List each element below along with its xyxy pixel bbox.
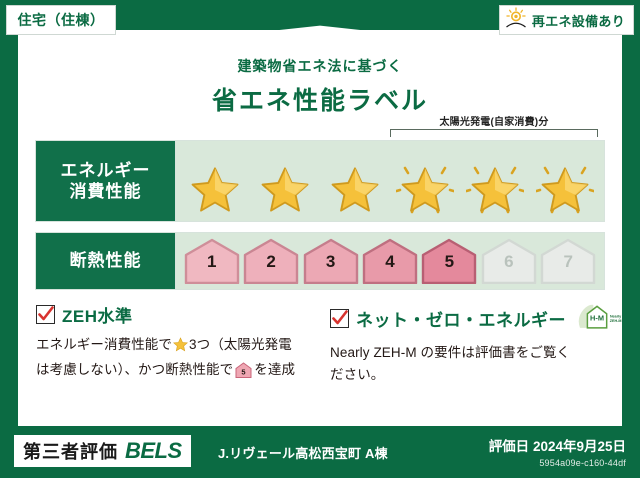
insulation-level-3: 3 (302, 238, 360, 284)
star-base (326, 157, 384, 217)
zeh-desc-part-d: を達成 (254, 362, 295, 377)
sun-solar-icon (504, 7, 528, 34)
insulation-level-number: 5 (420, 252, 478, 272)
insulation-level-number: 6 (480, 252, 538, 272)
zeh-m-logo-icon: H-M Nearly ZEH-M (577, 302, 623, 335)
evaluation-info: 評価日 2024年9月25日 5954a09e-c160-44df (489, 435, 626, 468)
nze-desc-part-a: Nearly ZEH-M の要件は評価書をご覧く (330, 345, 570, 360)
solar-annotation-text: 太陽光発電(自家消費)分 (390, 113, 598, 128)
star-icon (540, 165, 590, 215)
zeh-standard-block: ZEH水準 エネルギー消費性能で3つ（太陽光発電 は考慮しない）、かつ断熱性能で… (36, 302, 312, 387)
insulation-performance-label-box: 断熱性能 (35, 232, 176, 290)
star-solar (536, 157, 594, 217)
insulation-level-1: 1 (183, 238, 241, 284)
energy-performance-row: エネルギー 消費性能 太陽光発電(自家消費)分 (35, 140, 605, 222)
footer-bar: 第三者評価 BELS J.リヴェール高松西宝町 A棟 評価日 2024年9月25… (0, 426, 640, 478)
net-zero-energy-description: Nearly ZEH-M の要件は評価書をご覧く ださい。 (330, 342, 606, 387)
star-base (186, 157, 244, 217)
star-icon (190, 165, 240, 215)
star-solar (466, 157, 524, 217)
energy-performance-label: 住宅（住棟） 再エネ設備あり 建築物省エネ法に基づく 省エネ性能ラベル (0, 0, 640, 478)
svg-text:ZEH-M: ZEH-M (610, 319, 622, 323)
net-zero-energy-checkbox[interactable] (330, 309, 349, 328)
insulation-level-number: 1 (183, 252, 241, 272)
zeh-standard-description: エネルギー消費性能で3つ（太陽光発電 は考慮しない）、かつ断熱性能で5を達成 (36, 334, 312, 386)
inline-house-level-icon: 5 (235, 366, 252, 381)
insulation-level-2: 2 (242, 238, 300, 284)
svg-text:5: 5 (242, 368, 246, 377)
renewable-equipment-label: 再エネ設備あり (532, 11, 625, 30)
housing-type-label: 住宅（住棟） (18, 10, 105, 30)
svg-text:H-M: H-M (590, 313, 604, 322)
evaluation-date: 評価日 2024年9月25日 (489, 435, 626, 455)
certification-checks: ZEH水準 エネルギー消費性能で3つ（太陽光発電 は考慮しない）、かつ断熱性能で… (36, 302, 606, 387)
insulation-level-number: 2 (242, 252, 300, 272)
net-zero-energy-header: ネット・ゼロ・エネルギー H-M Nearly ZEH-M (330, 302, 606, 335)
zeh-standard-header: ZEH水準 (36, 302, 312, 327)
star-solar (396, 157, 454, 217)
bels-jp-label: 第三者評価 (23, 438, 118, 464)
insulation-level-7: 7 (539, 238, 597, 284)
energy-label-line2: 消費性能 (70, 181, 142, 202)
energy-stars-panel: 太陽光発電(自家消費)分 (176, 140, 605, 222)
renewable-equipment-badge: 再エネ設備あり (499, 5, 634, 35)
solar-generation-annotation: 太陽光発電(自家消費)分 (390, 113, 598, 137)
inline-star-icon (173, 340, 188, 355)
insulation-level-number: 7 (539, 252, 597, 272)
zeh-standard-checkbox[interactable] (36, 305, 55, 324)
bels-en-label: BELS (125, 438, 182, 464)
nze-desc-part-b: ださい。 (330, 367, 384, 382)
zeh-desc-part-c: は考慮しない）、かつ断熱性能で (36, 362, 233, 377)
star-icon (330, 165, 380, 215)
bels-badge: 第三者評価 BELS (14, 435, 191, 467)
insulation-label: 断熱性能 (70, 250, 142, 271)
insulation-level-6: 6 (480, 238, 538, 284)
title-main: 省エネ性能ラベル (18, 81, 622, 117)
svg-text:Nearly: Nearly (610, 314, 622, 318)
insulation-houses-panel: 1234567 (176, 232, 605, 290)
insulation-level-number: 3 (302, 252, 360, 272)
energy-label-line1: エネルギー (61, 160, 151, 181)
energy-performance-label-box: エネルギー 消費性能 (35, 140, 176, 222)
insulation-level-scale: 1234567 (176, 233, 604, 289)
net-zero-energy-block: ネット・ゼロ・エネルギー H-M Nearly ZEH-M Nearly ZEH… (330, 302, 606, 387)
insulation-level-4: 4 (361, 238, 419, 284)
solar-bracket (390, 129, 598, 137)
label-body-panel: 建築物省エネ法に基づく 省エネ性能ラベル エネルギー 消費性能 太陽光発電(自家… (18, 30, 622, 426)
zeh-desc-part-a: エネルギー消費性能で (36, 337, 172, 352)
star-icon (400, 165, 450, 215)
star-base (256, 157, 314, 217)
insulation-level-5: 5 (420, 238, 478, 284)
star-rating (176, 157, 604, 217)
star-icon (470, 165, 520, 215)
zeh-standard-title: ZEH水準 (62, 302, 133, 327)
net-zero-energy-title: ネット・ゼロ・エネルギー (356, 306, 566, 331)
housing-type-badge: 住宅（住棟） (6, 5, 116, 35)
star-icon (260, 165, 310, 215)
zeh-desc-part-b: 3つ（太陽光発電 (189, 337, 292, 352)
title-subtitle: 建築物省エネ法に基づく (18, 56, 622, 76)
insulation-level-number: 4 (361, 252, 419, 272)
insulation-performance-row: 断熱性能 1234567 (35, 232, 605, 290)
evaluation-id: 5954a09e-c160-44df (489, 458, 626, 468)
property-name: J.リヴェール高松西宝町 A棟 (218, 443, 388, 462)
label-title: 建築物省エネ法に基づく 省エネ性能ラベル (18, 56, 622, 117)
